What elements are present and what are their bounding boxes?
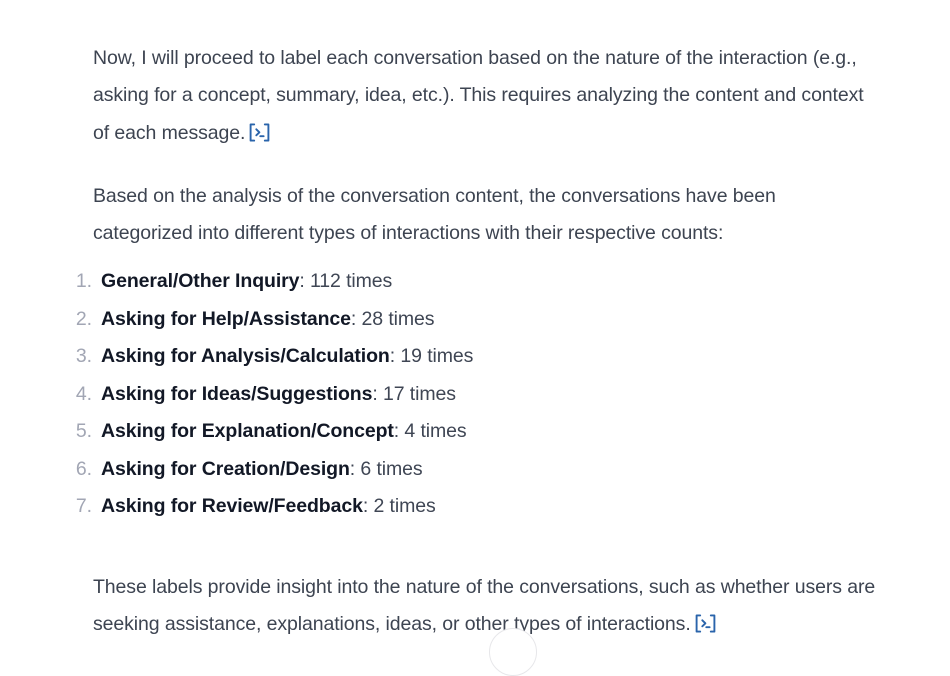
list-item-marker: 2. bbox=[60, 301, 92, 339]
terminal-icon[interactable] bbox=[694, 614, 717, 633]
paragraph-analysis-intro: Based on the analysis of the conversatio… bbox=[93, 178, 853, 253]
list-item: 2. Asking for Help/Assistance: 28 times bbox=[60, 301, 920, 339]
list-item: 4. Asking for Ideas/Suggestions: 17 time… bbox=[60, 376, 920, 414]
scroll-to-bottom-button[interactable] bbox=[489, 628, 537, 676]
terminal-icon[interactable] bbox=[248, 123, 271, 142]
list-item-label: Asking for Ideas/Suggestions bbox=[101, 383, 372, 405]
list-item-value: : 2 times bbox=[363, 495, 436, 517]
assistant-message-body: Now, I will proceed to label each conver… bbox=[0, 0, 950, 638]
list-item-content: General/Other Inquiry: 112 times bbox=[101, 263, 392, 301]
list-item-value: : 4 times bbox=[394, 420, 467, 442]
list-item-value: : 17 times bbox=[372, 383, 456, 405]
paragraph-conclusion: These labels provide insight into the na… bbox=[93, 569, 883, 644]
list-item: 6. Asking for Creation/Design: 6 times bbox=[60, 451, 920, 489]
list-item-marker: 1. bbox=[60, 263, 92, 301]
list-item-marker: 7. bbox=[60, 488, 92, 526]
list-item-marker: 6. bbox=[60, 451, 92, 489]
list-item: 5. Asking for Explanation/Concept: 4 tim… bbox=[60, 413, 920, 451]
list-item-content: Asking for Review/Feedback: 2 times bbox=[101, 488, 436, 526]
list-item: 1. General/Other Inquiry: 112 times bbox=[60, 263, 920, 301]
list-item-value: : 112 times bbox=[299, 270, 392, 292]
list-item-label: Asking for Explanation/Concept bbox=[101, 420, 394, 442]
interaction-type-counts-list: 1. General/Other Inquiry: 112 times 2. A… bbox=[60, 263, 920, 526]
list-item-label: Asking for Review/Feedback bbox=[101, 495, 363, 517]
list-item-label: Asking for Analysis/Calculation bbox=[101, 345, 390, 367]
list-item-label: Asking for Help/Assistance bbox=[101, 308, 351, 330]
list-item: 7. Asking for Review/Feedback: 2 times bbox=[60, 488, 920, 526]
list-item-label: Asking for Creation/Design bbox=[101, 458, 350, 480]
list-item-content: Asking for Ideas/Suggestions: 17 times bbox=[101, 376, 456, 414]
list-item: 3. Asking for Analysis/Calculation: 19 t… bbox=[60, 338, 920, 376]
list-item-label: General/Other Inquiry bbox=[101, 270, 299, 292]
list-item-value: : 19 times bbox=[390, 345, 474, 367]
list-item-marker: 3. bbox=[60, 338, 92, 376]
list-item-marker: 4. bbox=[60, 376, 92, 414]
list-item-value: : 6 times bbox=[350, 458, 423, 480]
paragraph-conclusion-text: These labels provide insight into the na… bbox=[93, 576, 875, 636]
list-item-content: Asking for Analysis/Calculation: 19 time… bbox=[101, 338, 473, 376]
paragraph-labeling-plan: Now, I will proceed to label each conver… bbox=[93, 40, 883, 153]
paragraph-labeling-plan-text: Now, I will proceed to label each conver… bbox=[93, 47, 864, 144]
list-item-marker: 5. bbox=[60, 413, 92, 451]
list-item-value: : 28 times bbox=[351, 308, 435, 330]
list-item-content: Asking for Creation/Design: 6 times bbox=[101, 451, 423, 489]
list-item-content: Asking for Explanation/Concept: 4 times bbox=[101, 413, 467, 451]
list-item-content: Asking for Help/Assistance: 28 times bbox=[101, 301, 434, 339]
